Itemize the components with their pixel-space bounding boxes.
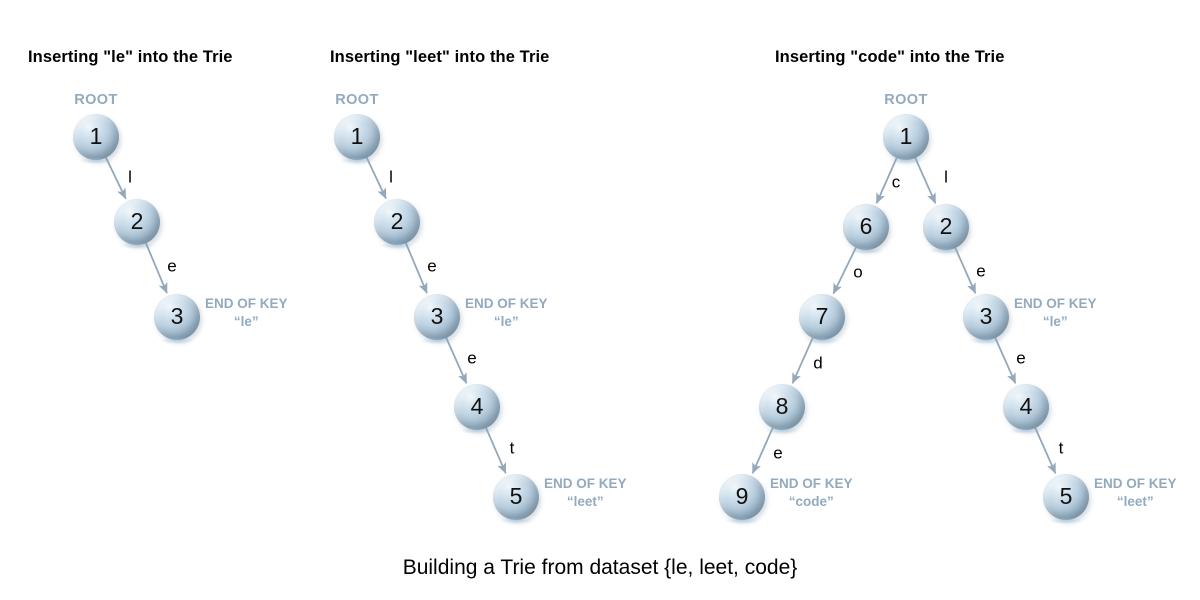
trie-node-label: 4	[454, 384, 500, 430]
trie-edge	[146, 242, 167, 293]
edge-label: o	[853, 264, 862, 281]
trie-node-label: 8	[759, 384, 805, 430]
trie-node-label: 3	[414, 294, 460, 340]
trie-edge	[915, 157, 936, 203]
trie-node[interactable]: 4	[1003, 384, 1049, 430]
edge-label: e	[427, 258, 436, 275]
root-label: ROOT	[74, 92, 118, 108]
edge-label: e	[167, 258, 176, 275]
trie-edge	[1035, 427, 1056, 473]
trie-node-label: 6	[843, 204, 889, 250]
panel-title: Inserting "le" into the Trie	[28, 48, 233, 67]
trie-node[interactable]: 5	[1043, 474, 1089, 520]
trie-node[interactable]: 2	[114, 199, 160, 245]
end-of-key-name: “le”	[465, 313, 548, 331]
end-of-key-name: “code”	[770, 493, 853, 511]
end-of-key-name: “leet”	[1094, 493, 1177, 511]
trie-node[interactable]: 3	[154, 294, 200, 340]
edge-label: c	[892, 174, 901, 191]
end-of-key-name: “le”	[205, 313, 288, 331]
edge-label: e	[467, 350, 476, 367]
end-of-key-annotation: END OF KEY“le”	[205, 295, 288, 331]
trie-node-label: 2	[923, 204, 969, 250]
edge-label: t	[1059, 440, 1064, 457]
end-of-key-title: END OF KEY	[770, 475, 853, 493]
end-of-key-title: END OF KEY	[205, 295, 288, 313]
trie-node[interactable]: 4	[454, 384, 500, 430]
trie-node[interactable]: 8	[759, 384, 805, 430]
trie-node[interactable]: 1	[334, 114, 380, 160]
root-label: ROOT	[335, 92, 379, 108]
trie-edge	[366, 157, 386, 199]
trie-node[interactable]: 1	[883, 114, 929, 160]
end-of-key-name: “le”	[1014, 313, 1097, 331]
trie-node-label: 7	[799, 294, 845, 340]
end-of-key-annotation: END OF KEY“leet”	[544, 475, 627, 511]
trie-node-label: 3	[154, 294, 200, 340]
trie-node[interactable]: 9	[719, 474, 765, 520]
figure-caption: Building a Trie from dataset {le, leet, …	[0, 556, 1200, 580]
trie-node[interactable]: 3	[414, 294, 460, 340]
trie-node[interactable]: 2	[923, 204, 969, 250]
edge-label: l	[944, 169, 948, 186]
trie-edge	[446, 337, 467, 383]
trie-node[interactable]: 3	[963, 294, 1009, 340]
end-of-key-title: END OF KEY	[465, 295, 548, 313]
edge-label: e	[773, 445, 782, 462]
end-of-key-annotation: END OF KEY“code”	[770, 475, 853, 511]
edge-label: e	[976, 263, 985, 280]
trie-node[interactable]: 2	[374, 199, 420, 245]
end-of-key-title: END OF KEY	[544, 475, 627, 493]
trie-node-label: 1	[73, 114, 119, 160]
trie-edge	[995, 337, 1016, 383]
end-of-key-title: END OF KEY	[1014, 295, 1097, 313]
end-of-key-annotation: END OF KEY“le”	[1014, 295, 1097, 331]
end-of-key-title: END OF KEY	[1094, 475, 1177, 493]
edge-label: d	[813, 355, 822, 372]
trie-edge	[486, 427, 506, 473]
end-of-key-annotation: END OF KEY“le”	[465, 295, 548, 331]
edge-label: l	[389, 169, 393, 186]
end-of-key-annotation: END OF KEY“leet”	[1094, 475, 1177, 511]
trie-node-label: 2	[374, 199, 420, 245]
panel-title: Inserting "code" into the Trie	[775, 48, 1005, 67]
panel-title: Inserting "leet" into the Trie	[330, 48, 549, 67]
trie-node-label: 9	[719, 474, 765, 520]
trie-node-label: 1	[334, 114, 380, 160]
end-of-key-name: “leet”	[544, 493, 627, 511]
edge-label: l	[128, 169, 132, 186]
root-label: ROOT	[884, 92, 928, 108]
edge-label: t	[510, 440, 515, 457]
trie-edge	[406, 242, 427, 293]
trie-node-label: 1	[883, 114, 929, 160]
trie-node-label: 3	[963, 294, 1009, 340]
trie-edge	[793, 337, 814, 383]
trie-edge	[955, 247, 976, 293]
trie-node-label: 5	[493, 474, 539, 520]
trie-node-label: 2	[114, 199, 160, 245]
trie-edge	[106, 157, 126, 199]
edge-label: e	[1016, 350, 1025, 367]
trie-node[interactable]: 6	[843, 204, 889, 250]
trie-node[interactable]: 5	[493, 474, 539, 520]
trie-node[interactable]: 7	[799, 294, 845, 340]
trie-diagram: Inserting "le" into the TrieleROOT123END…	[0, 0, 1200, 600]
trie-edge	[753, 427, 774, 473]
trie-node-label: 5	[1043, 474, 1089, 520]
trie-node-label: 4	[1003, 384, 1049, 430]
trie-node[interactable]: 1	[73, 114, 119, 160]
